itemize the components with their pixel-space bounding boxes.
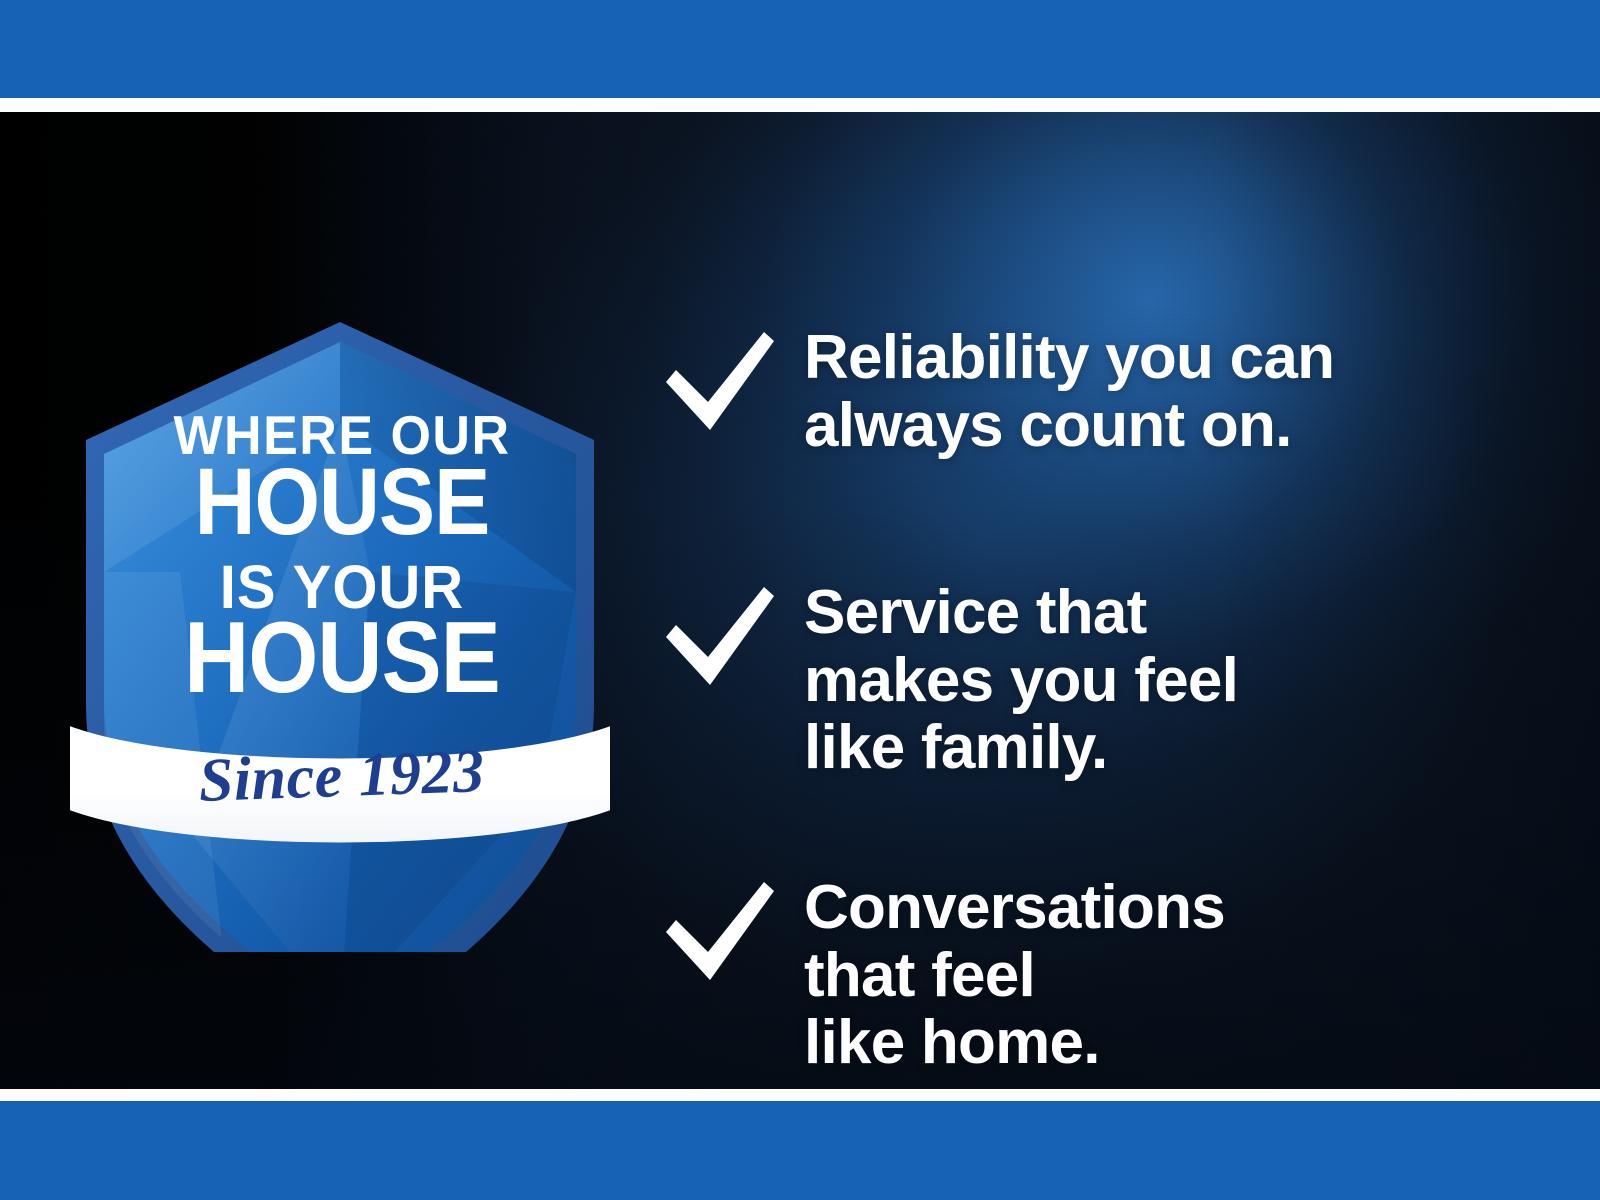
shield-line-4: HOUSE: [184, 601, 500, 714]
benefit-item-conversations: Conversations that feel like home.: [660, 874, 1225, 1077]
checkmark-icon: [660, 324, 788, 440]
ribbon-text: Since 1923: [198, 737, 486, 815]
benefit-text: Reliability you can always count on.: [788, 324, 1334, 459]
benefit-item-service: Service that makes you feel like family.: [660, 579, 1238, 782]
checkmark-icon: [660, 579, 788, 695]
top-brand-bar: [0, 0, 1600, 98]
bottom-brand-bar: [0, 1101, 1600, 1200]
shield-badge: WHERE OUR HOUSE IS YOUR HOUSE Since 1923: [70, 272, 610, 952]
content-stage: WHERE OUR HOUSE IS YOUR HOUSE Since 1923: [0, 112, 1600, 1089]
benefit-item-reliability: Reliability you can always count on.: [660, 324, 1334, 459]
benefits-list: Reliability you can always count on. Ser…: [660, 224, 1540, 1089]
shield-line-2: HOUSE: [195, 448, 490, 554]
promo-poster: WHERE OUR HOUSE IS YOUR HOUSE Since 1923: [0, 0, 1600, 1200]
checkmark-icon: [660, 874, 788, 990]
benefit-text: Conversations that feel like home.: [788, 874, 1225, 1077]
benefit-text: Service that makes you feel like family.: [788, 579, 1238, 782]
shield-headline: WHERE OUR HOUSE IS YOUR HOUSE: [173, 405, 510, 715]
